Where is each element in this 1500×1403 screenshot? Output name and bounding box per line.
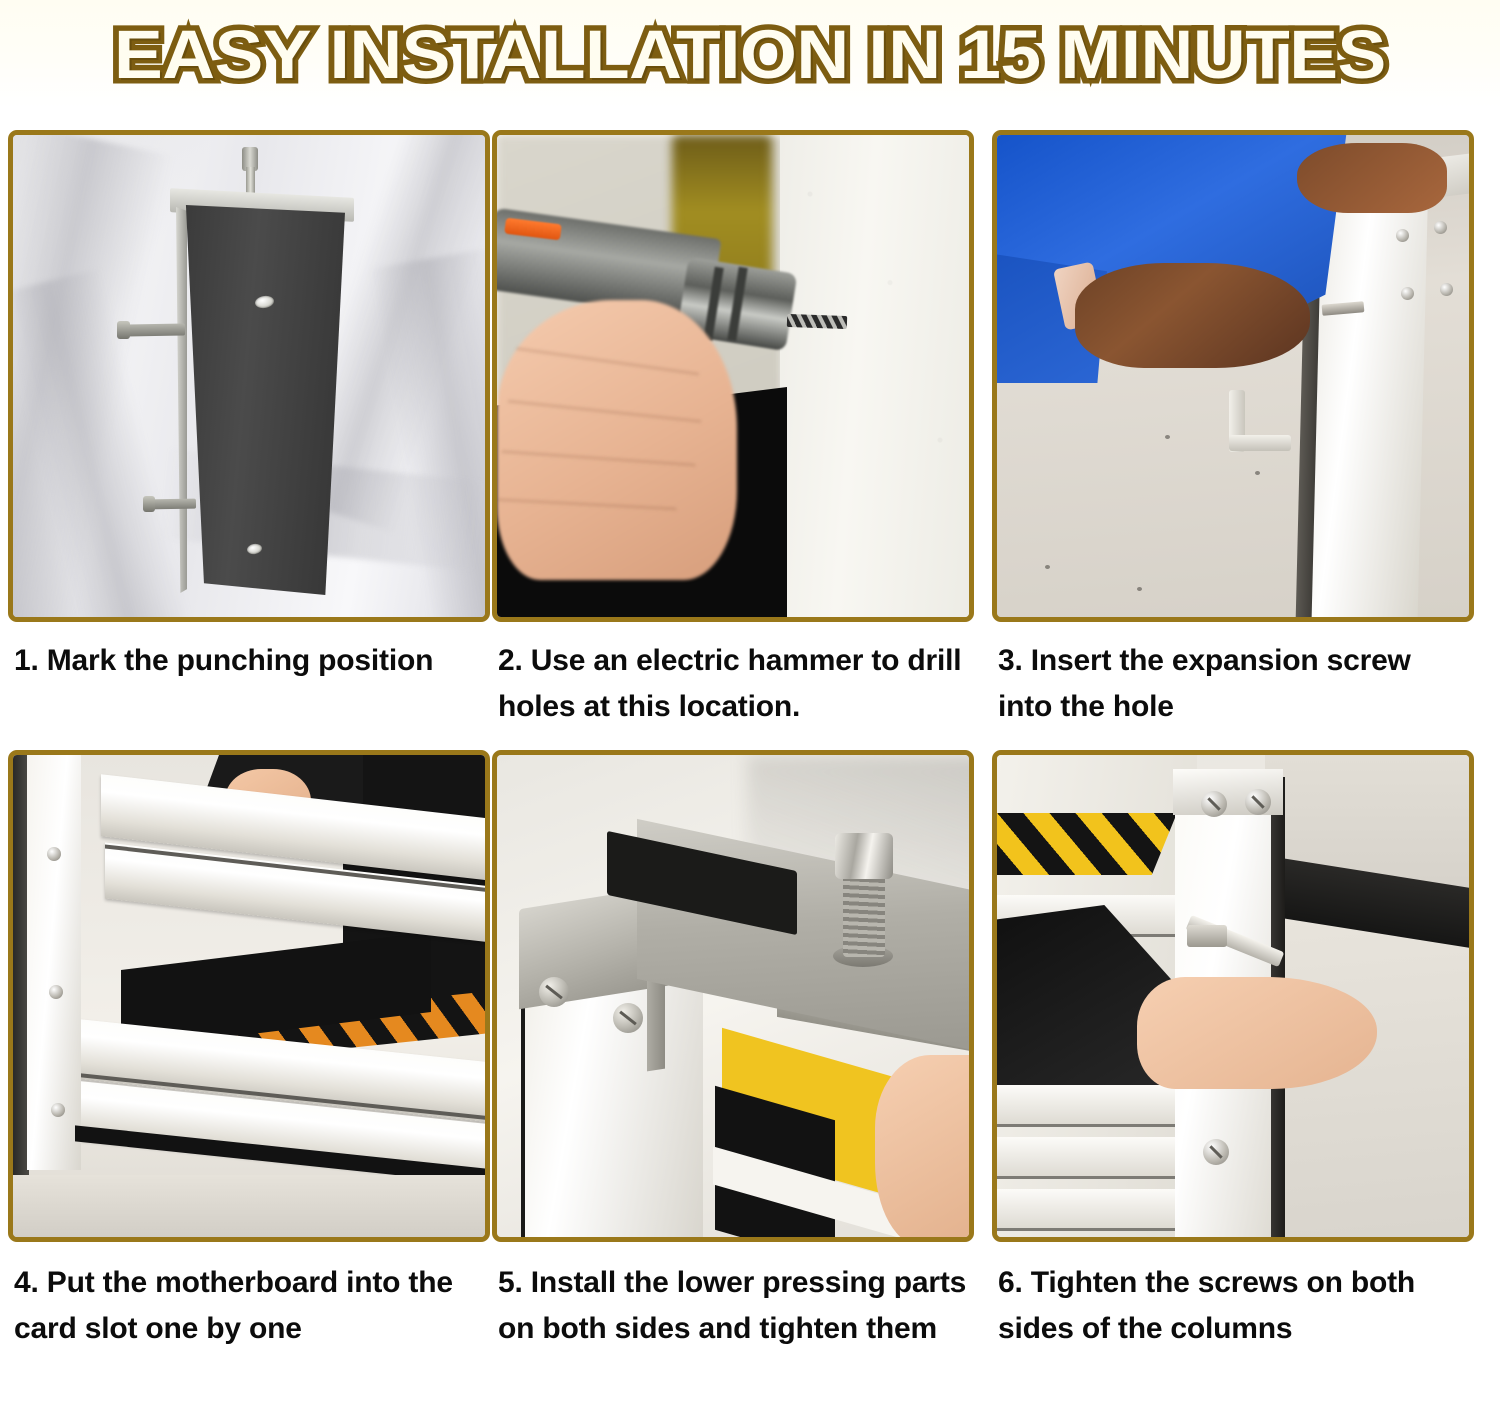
drill-bit	[787, 314, 847, 329]
step-card-3: 3. Insert the expansion screw into the h…	[992, 130, 1478, 750]
step-photo-4	[8, 750, 490, 1242]
step-card-1: 1. Mark the punching position	[8, 130, 492, 750]
floor-speck	[1045, 565, 1050, 569]
step-caption-1: 1. Mark the punching position	[8, 622, 492, 750]
floor-speck	[1165, 435, 1170, 439]
barrier-board	[997, 1189, 1187, 1231]
allen-key-arm	[1229, 435, 1291, 451]
hand-supporting-board	[875, 1055, 969, 1237]
column-screw	[1201, 791, 1227, 817]
column-screw	[1440, 283, 1453, 296]
step-photo-6	[992, 750, 1474, 1242]
side-stud-upper-cap	[117, 321, 130, 339]
column-screw	[51, 1103, 65, 1117]
worker-upper-hand	[1297, 143, 1447, 213]
bolt-threaded-shaft	[843, 873, 885, 957]
step-card-2: 2. Use an electric hammer to drill holes…	[492, 130, 978, 750]
step-photo-1	[8, 130, 490, 622]
column-screw	[1396, 229, 1409, 242]
step-caption-2: 2. Use an electric hammer to drill holes…	[492, 622, 978, 750]
column-screw	[1401, 287, 1414, 300]
target-wall-surface	[780, 135, 969, 617]
step-photo-2	[492, 130, 974, 622]
floor-speck	[1137, 587, 1142, 591]
title-banner: EASY INSTALLATION IN 15 MINUTES	[0, 0, 1500, 108]
column-screw	[47, 847, 61, 861]
bracket-screw	[539, 977, 569, 1007]
step-caption-6: 6. Tighten the screws on both sides of t…	[992, 1242, 1478, 1392]
hand-gripping-drill	[497, 300, 737, 580]
step-card-4: 4. Put the motherboard into the card slo…	[8, 750, 492, 1392]
step-caption-4: 4. Put the motherboard into the card slo…	[8, 1242, 492, 1392]
column-screw	[1203, 1139, 1229, 1165]
installation-guide-page: EASY INSTALLATION IN 15 MINUTES	[0, 0, 1500, 1403]
step-caption-5: 5. Install the lower pressing parts on b…	[492, 1242, 978, 1392]
page-title: EASY INSTALLATION IN 15 MINUTES	[114, 20, 1386, 89]
step-caption-3: 3. Insert the expansion screw into the h…	[992, 622, 1478, 750]
steps-grid: 1. Mark the punching position	[8, 130, 1492, 1392]
side-stud-lower-cap	[143, 496, 155, 512]
floor-surface	[13, 1175, 485, 1237]
barrier-board	[997, 1137, 1187, 1179]
hand-tightening-screw	[1137, 977, 1377, 1089]
step-photo-3	[992, 130, 1474, 622]
bolt-head	[835, 833, 893, 879]
column-screw	[1434, 221, 1447, 234]
floor-speck	[1255, 471, 1260, 475]
screwdriver-head	[1187, 925, 1227, 947]
step-photo-5	[492, 750, 974, 1242]
hazard-stripe-band	[997, 813, 1177, 875]
barrier-board	[997, 1085, 1187, 1127]
bracket-screw	[613, 1003, 643, 1033]
bracket-body	[181, 205, 345, 595]
step-card-5: 5. Install the lower pressing parts on b…	[492, 750, 978, 1392]
worker-forearm	[1075, 263, 1310, 368]
column-screw	[1245, 789, 1271, 815]
side-stud-upper	[121, 323, 185, 336]
step-card-6: 6. Tighten the screws on both sides of t…	[992, 750, 1478, 1392]
column-screw	[49, 985, 63, 999]
